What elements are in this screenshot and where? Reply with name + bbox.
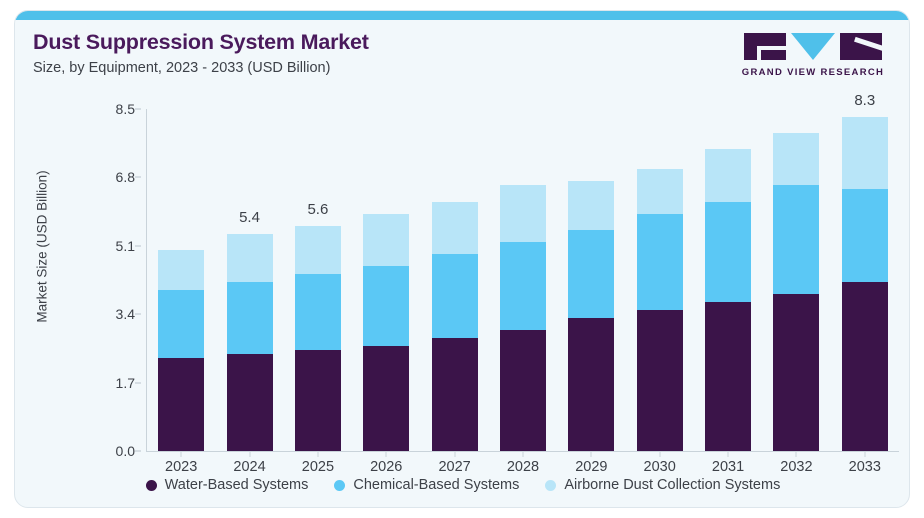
bar-segment[interactable]	[363, 214, 409, 266]
bar-segment[interactable]	[705, 202, 751, 303]
y-axis-tick-mark	[135, 245, 141, 246]
bar-segment[interactable]	[773, 185, 819, 294]
bar-segment[interactable]	[500, 242, 546, 331]
legend-label: Chemical-Based Systems	[353, 477, 519, 493]
bar-column[interactable]	[489, 89, 557, 451]
y-axis-tick-label: 1.7	[116, 375, 135, 391]
bar-group: 5.45.68.3	[147, 89, 899, 451]
chart-subtitle: Size, by Equipment, 2023 - 2033 (USD Bil…	[33, 60, 733, 77]
bar-segment[interactable]	[842, 117, 888, 189]
x-axis-tick-label: 2026	[352, 459, 420, 475]
x-axis-tick-mark	[522, 452, 523, 457]
bar-segment[interactable]	[158, 250, 204, 290]
gvr-g-block-icon	[744, 33, 786, 60]
bar-segment[interactable]	[568, 230, 614, 319]
bar-column[interactable]	[762, 89, 830, 451]
x-axis-tick-label: 2029	[557, 459, 625, 475]
bar-segment[interactable]	[637, 214, 683, 311]
legend-swatch-icon	[146, 480, 157, 491]
bar-value-label: 5.6	[284, 201, 352, 218]
bar-segment[interactable]	[500, 330, 546, 451]
legend-swatch-icon	[545, 480, 556, 491]
x-axis-tick-mark	[386, 452, 387, 457]
legend-swatch-icon	[334, 480, 345, 491]
bar-segment[interactable]	[363, 346, 409, 451]
bar-segment[interactable]	[227, 282, 273, 354]
top-accent-bar	[15, 11, 909, 20]
stacked-bar[interactable]	[637, 169, 683, 451]
bar-segment[interactable]	[842, 282, 888, 451]
bar-segment[interactable]	[705, 149, 751, 201]
y-axis-tick-mark	[135, 177, 141, 178]
bar-column[interactable]	[352, 89, 420, 451]
bar-segment[interactable]	[500, 185, 546, 241]
x-axis-tick-mark	[864, 452, 865, 457]
chart-card: Dust Suppression System Market Size, by …	[14, 10, 910, 508]
bar-column[interactable]: 5.6	[284, 89, 352, 451]
stacked-bar[interactable]	[773, 133, 819, 451]
stacked-bar[interactable]	[705, 149, 751, 451]
x-axis-tick-mark	[454, 452, 455, 457]
stacked-bar[interactable]	[158, 250, 204, 451]
x-axis-tick-mark	[317, 452, 318, 457]
logo-marks	[744, 33, 882, 61]
bar-segment[interactable]	[227, 234, 273, 282]
x-axis-tick-label: 2025	[284, 459, 352, 475]
y-axis-tick-label: 6.8	[116, 169, 135, 185]
y-axis-tick-mark	[135, 314, 141, 315]
bar-segment[interactable]	[432, 338, 478, 451]
bar-segment[interactable]	[432, 254, 478, 338]
y-axis-tick-label: 5.1	[116, 238, 135, 254]
stacked-bar[interactable]	[227, 234, 273, 451]
bar-segment[interactable]	[568, 318, 614, 451]
bar-segment[interactable]	[158, 290, 204, 358]
bar-segment[interactable]	[432, 202, 478, 254]
x-axis-tick-label: 2032	[762, 459, 830, 475]
stacked-bar[interactable]	[500, 185, 546, 451]
gvr-r-block-icon	[840, 33, 882, 60]
bar-segment[interactable]	[773, 133, 819, 185]
bar-segment[interactable]	[637, 169, 683, 213]
x-axis-tick-label: 2033	[831, 459, 899, 475]
legend-label: Water-Based Systems	[165, 477, 309, 493]
x-axis-tick-label: 2030	[626, 459, 694, 475]
y-axis-tick-label: 3.4	[116, 306, 135, 322]
bar-column[interactable]	[694, 89, 762, 451]
x-axis-tick-mark	[591, 452, 592, 457]
x-axis-tick-mark	[728, 452, 729, 457]
logo-text: GRAND VIEW RESEARCH	[739, 67, 887, 78]
stacked-bar[interactable]	[295, 226, 341, 451]
y-axis-tick-label: 8.5	[116, 101, 135, 117]
x-axis-tick-mark	[796, 452, 797, 457]
x-axis-tick-label: 2024	[216, 459, 284, 475]
bar-column[interactable]	[147, 89, 215, 451]
legend-item[interactable]: Water-Based Systems	[146, 477, 309, 493]
page-title: Dust Suppression System Market	[33, 30, 733, 55]
plot-area: Market Size (USD Billion) 0.01.73.45.16.…	[15, 89, 910, 469]
bar-column[interactable]	[557, 89, 625, 451]
legend-item[interactable]: Chemical-Based Systems	[334, 477, 519, 493]
legend-item[interactable]: Airborne Dust Collection Systems	[545, 477, 780, 493]
bar-segment[interactable]	[637, 310, 683, 451]
bar-segment[interactable]	[295, 274, 341, 350]
grand-view-research-logo: GRAND VIEW RESEARCH	[739, 33, 887, 78]
y-axis-tick-mark	[135, 109, 141, 110]
stacked-bar[interactable]	[363, 214, 409, 451]
legend-label: Airborne Dust Collection Systems	[564, 477, 780, 493]
x-axis-tick-mark	[249, 452, 250, 457]
y-axis-tick-label: 0.0	[116, 443, 135, 459]
bar-column[interactable]	[421, 89, 489, 451]
x-axis-labels: 2023202420252026202720282029203020312032…	[147, 459, 899, 475]
bar-segment[interactable]	[568, 181, 614, 229]
stacked-bar[interactable]	[842, 117, 888, 451]
bar-segment[interactable]	[363, 266, 409, 346]
y-axis-tick-mark	[135, 451, 141, 452]
bar-column[interactable]: 8.3	[831, 89, 899, 451]
gvr-v-triangle-icon	[791, 33, 835, 60]
bar-segment[interactable]	[705, 302, 751, 451]
bar-segment[interactable]	[227, 354, 273, 451]
y-axis-title: Market Size (USD Billion)	[35, 147, 50, 347]
chart-header: Dust Suppression System Market Size, by …	[33, 30, 733, 77]
bar-segment[interactable]	[295, 226, 341, 274]
bar-column[interactable]: 5.4	[216, 89, 284, 451]
x-axis-tick-label: 2028	[489, 459, 557, 475]
stacked-bar[interactable]	[568, 181, 614, 451]
bar-segment[interactable]	[842, 189, 888, 282]
bar-segment[interactable]	[158, 358, 204, 451]
bar-column[interactable]	[626, 89, 694, 451]
x-axis-tick-mark	[659, 452, 660, 457]
y-axis-ticks: 0.01.73.45.16.88.5	[75, 89, 147, 451]
x-axis-tick-label: 2031	[694, 459, 762, 475]
x-axis-tick-mark	[181, 452, 182, 457]
x-axis-tick-label: 2023	[147, 459, 215, 475]
bar-segment[interactable]	[295, 350, 341, 451]
y-axis-tick-mark	[135, 382, 141, 383]
bar-segment[interactable]	[773, 294, 819, 451]
bar-value-label: 8.3	[831, 92, 899, 109]
bar-value-label: 5.4	[216, 209, 284, 226]
chart-legend: Water-Based SystemsChemical-Based System…	[15, 477, 910, 493]
x-axis-tick-label: 2027	[421, 459, 489, 475]
stacked-bar[interactable]	[432, 202, 478, 451]
